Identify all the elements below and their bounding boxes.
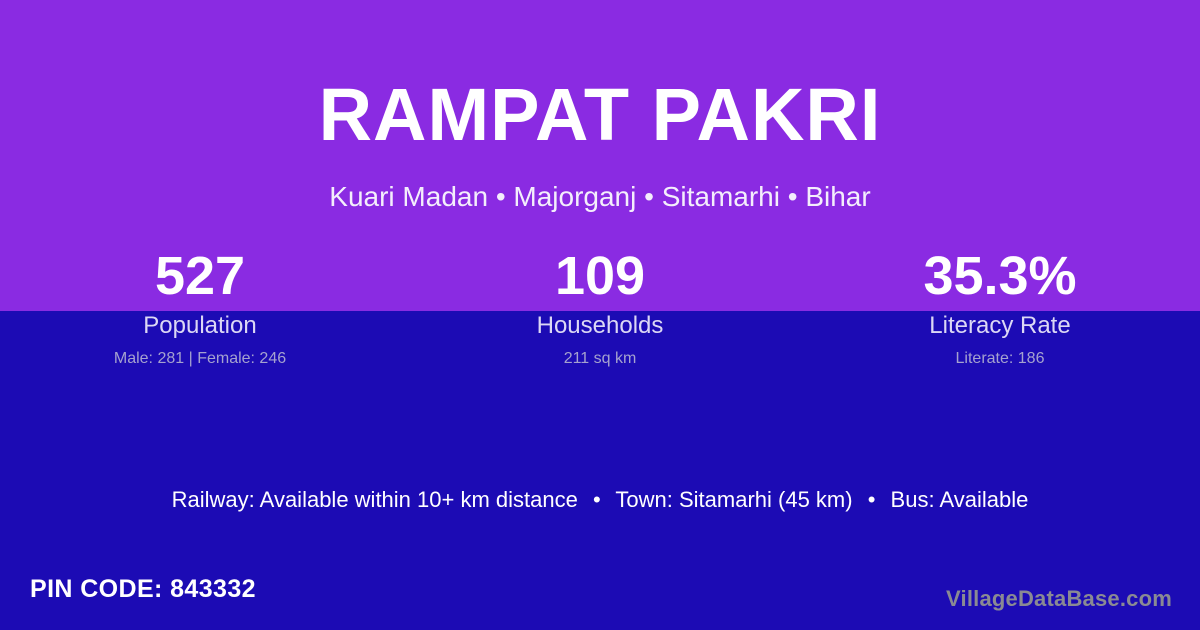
transport-info-line: Railway: Available within 10+ km distanc… xyxy=(0,486,1200,514)
stat-label-households: Households xyxy=(400,312,800,340)
stat-block-households: 109 Households 211 sq km xyxy=(400,245,800,368)
stat-value-literacy-rate: 35.3% xyxy=(800,245,1200,307)
stat-sub-households: 211 sq km xyxy=(400,349,800,368)
stats-row: 527 Population Male: 281 | Female: 246 1… xyxy=(0,245,1200,368)
stat-sub-literacy-rate: Literate: 186 xyxy=(800,349,1200,368)
stat-label-population: Population xyxy=(0,312,400,340)
page-title: RAMPAT PAKRI xyxy=(0,78,1200,152)
stat-block-population: 527 Population Male: 281 | Female: 246 xyxy=(0,245,400,368)
stat-sub-population: Male: 281 | Female: 246 xyxy=(0,349,400,368)
bus-info: Bus: Available xyxy=(891,487,1029,512)
stat-block-literacy-rate: 35.3% Literacy Rate Literate: 186 xyxy=(800,245,1200,368)
bullet-separator-icon: • xyxy=(859,486,885,514)
breadcrumb: Kuari Madan • Majorganj • Sitamarhi • Bi… xyxy=(0,183,1200,211)
bullet-separator-icon: • xyxy=(584,486,610,514)
stat-label-literacy-rate: Literacy Rate xyxy=(800,312,1200,340)
village-info-card: RAMPAT PAKRI Kuari Madan • Majorganj • S… xyxy=(0,0,1200,630)
pin-code: PIN CODE: 843332 xyxy=(30,574,256,604)
town-info: Town: Sitamarhi (45 km) xyxy=(615,487,852,512)
site-branding: VillageDataBase.com xyxy=(946,586,1172,612)
railway-info: Railway: Available within 10+ km distanc… xyxy=(172,487,578,512)
stat-value-households: 109 xyxy=(400,245,800,307)
stat-value-population: 527 xyxy=(0,245,400,307)
